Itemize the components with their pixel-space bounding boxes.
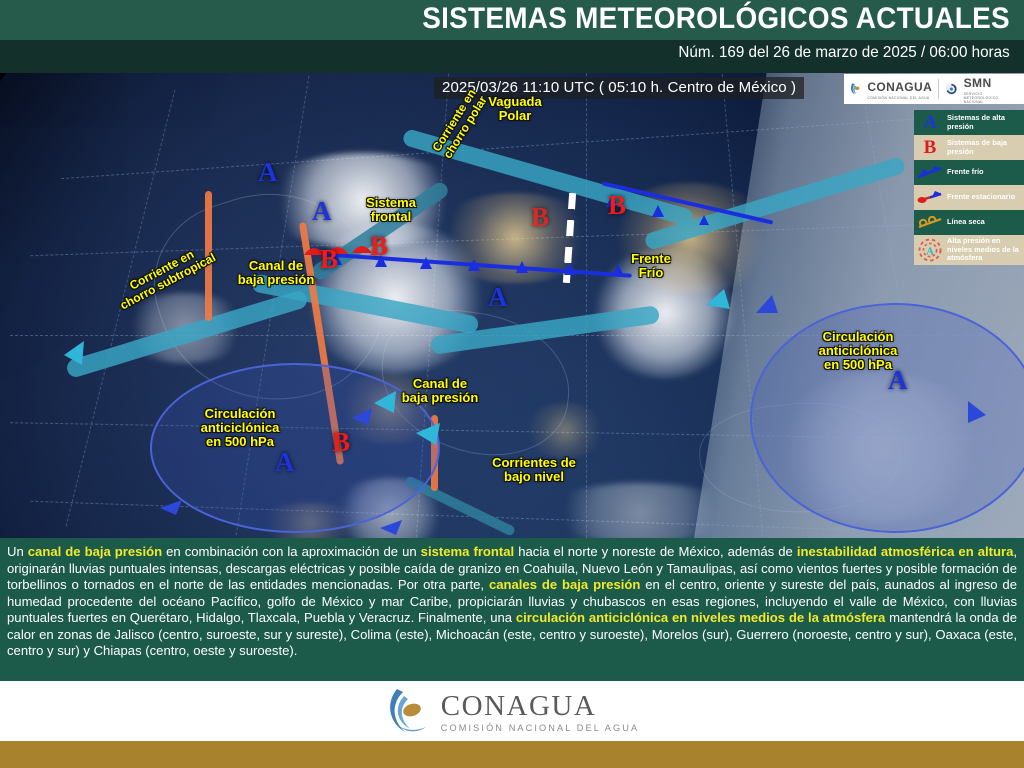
annotation-circulacion-anticiclonica-atlantico: Circulación anticiclónica en 500 hPa (800, 330, 916, 372)
conagua-wave-logo-icon (385, 686, 431, 736)
annotation-circulacion-anticiclonica-pacifico: Circulación anticiclónica en 500 hPa (182, 407, 298, 449)
weather-bulletin-page: SISTEMAS METEOROLÓGICOS ACTUALES Núm. 16… (0, 0, 1024, 768)
annotation-canal-baja-presion-sur: Canal de baja presión (386, 377, 494, 405)
smn-spiral-logo-icon (945, 80, 958, 98)
stationary-front-icon (916, 191, 944, 205)
legend-label: Alta presión en niveles medios de la atm… (947, 237, 1021, 263)
page-title: SISTEMAS METEOROLÓGICOS ACTUALES (422, 2, 1010, 36)
legend-item-low-pressure[interactable]: B Sistemas de baja presión (914, 135, 1024, 160)
svg-text:A: A (926, 247, 934, 258)
legend-item-cold-front[interactable]: Frente frío (914, 160, 1024, 185)
high-pressure-marker: A (488, 284, 508, 311)
legend-item-high-pressure[interactable]: A Sistemas de alta presión (914, 110, 1024, 135)
legend-label: Sistemas de alta presión (947, 114, 1021, 131)
mid-level-high-pressure-icon: A (916, 238, 944, 262)
annotation-corrientes-bajo-nivel: Corrientes de bajo nivel (476, 456, 592, 484)
cloud-mass (540, 483, 740, 538)
footer-gold-bar (0, 741, 1024, 768)
satellite-weather-map[interactable]: 2025/03/26 11:10 UTC ( 05:10 h. Centro d… (0, 73, 1024, 538)
footer-brand-name: CONAGUA (441, 690, 639, 723)
legend-label: Frente estacionario (947, 193, 1015, 202)
legend-label: Frente frío (947, 168, 984, 177)
dry-line-icon (916, 216, 944, 230)
conagua-wave-logo-icon (850, 79, 861, 99)
low-pressure-B-icon: B (916, 138, 944, 157)
legend-item-stationary-front[interactable]: Frente estacionario (914, 185, 1024, 210)
smn-logo-text: SMN (964, 76, 992, 90)
cold-front-barbs (600, 185, 800, 225)
annotation-canal-baja-presion-norte: Canal de baja presión (222, 259, 330, 287)
smn-logo-tagline: SERVICIO METEOROLÓGICO NACIONAL (964, 92, 1018, 104)
low-pressure-marker: B (370, 233, 388, 260)
footer-branding: CONAGUA COMISIÓN NACIONAL DEL AGUA (0, 681, 1024, 741)
low-pressure-marker: B (608, 192, 626, 219)
legend-label: Sistemas de baja presión (947, 139, 1021, 156)
high-pressure-A-icon: A (916, 113, 944, 132)
legend-label: Línea seca (947, 218, 985, 227)
footer-tagline: COMISIÓN NACIONAL DEL AGUA (441, 723, 639, 733)
high-pressure-marker: A (258, 159, 278, 186)
high-pressure-marker: A (312, 198, 332, 225)
forecast-description-text: Un canal de baja presión en combinación … (0, 538, 1024, 681)
low-pressure-marker: B (332, 429, 350, 456)
map-logo-strip: CONAGUA COMISIÓN NACIONAL DEL AGUA SMN S… (844, 74, 1024, 104)
map-legend: A Sistemas de alta presión B Sistemas de… (914, 110, 1024, 265)
cold-front-icon (916, 166, 944, 180)
logo-divider (938, 79, 939, 99)
annotation-sistema-frontal: Sistema frontal (352, 196, 430, 224)
bulletin-number-date: Núm. 169 del 26 de marzo de 2025 / 06:00… (679, 44, 1010, 62)
high-pressure-marker: A (275, 449, 295, 476)
conagua-logo-tagline: COMISIÓN NACIONAL DEL AGUA (867, 96, 932, 100)
legend-item-mid-level-high[interactable]: A Alta presión en niveles medios de la a… (914, 235, 1024, 265)
legend-item-dry-line[interactable]: Línea seca (914, 210, 1024, 235)
low-pressure-marker: B (531, 204, 549, 231)
conagua-logo-text: CONAGUA (867, 80, 932, 94)
annotation-frente-frio: Frente Frío (620, 252, 682, 280)
